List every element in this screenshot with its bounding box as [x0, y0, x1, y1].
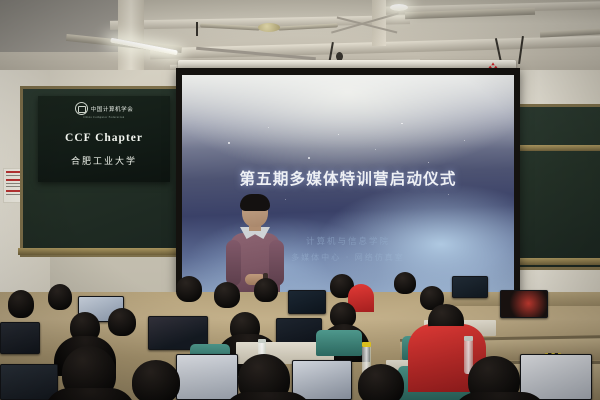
audience-head: [132, 360, 180, 400]
ceiling-fan-icon: [258, 23, 280, 32]
audience-head: [214, 282, 240, 308]
laptop[interactable]: [292, 360, 352, 400]
ceiling-lamp-icon: [390, 4, 408, 11]
banner-org-cn: 中国计算机学会: [91, 105, 134, 113]
audience-shoulders: [44, 388, 136, 400]
ccf-emblem-icon: [75, 102, 88, 115]
bottle-cap: [362, 342, 371, 347]
audience-head: [358, 364, 404, 400]
audience-head: [254, 278, 278, 302]
audience-head: [176, 276, 202, 302]
chalk-ledge: [18, 248, 178, 255]
screen-glare: [182, 75, 514, 149]
audience-head: [8, 290, 34, 318]
audience-head: [48, 284, 72, 310]
ceiling-column: [372, 0, 386, 46]
bottle-cap: [464, 336, 473, 341]
laptop[interactable]: [452, 276, 488, 298]
ceiling-cable: [196, 22, 198, 36]
lecture-hall-photo: 中国计算机学会 China Computer Federation CCF Ch…: [0, 0, 600, 400]
laptop[interactable]: [0, 322, 40, 354]
laptop[interactable]: [500, 290, 548, 318]
banner-logo-row: 中国计算机学会: [38, 102, 170, 115]
banner-org-en: China Computer Federation: [38, 116, 170, 119]
chair: [316, 330, 362, 356]
audience-head: [108, 308, 136, 336]
ccf-banner: 中国计算机学会 China Computer Federation CCF Ch…: [38, 96, 170, 182]
bottle-cap: [258, 339, 266, 343]
audience-head: [394, 272, 416, 294]
banner-chapter: CCF Chapter: [38, 132, 170, 144]
laptop[interactable]: [176, 354, 238, 400]
laptop[interactable]: [288, 290, 326, 314]
presenter-hair: [240, 194, 270, 211]
banner-university: 合肥工业大学: [38, 154, 170, 167]
slide-title: 第五期多媒体特训营启动仪式: [182, 167, 514, 189]
laptop[interactable]: [0, 364, 58, 400]
audience-seating: [0, 268, 600, 400]
